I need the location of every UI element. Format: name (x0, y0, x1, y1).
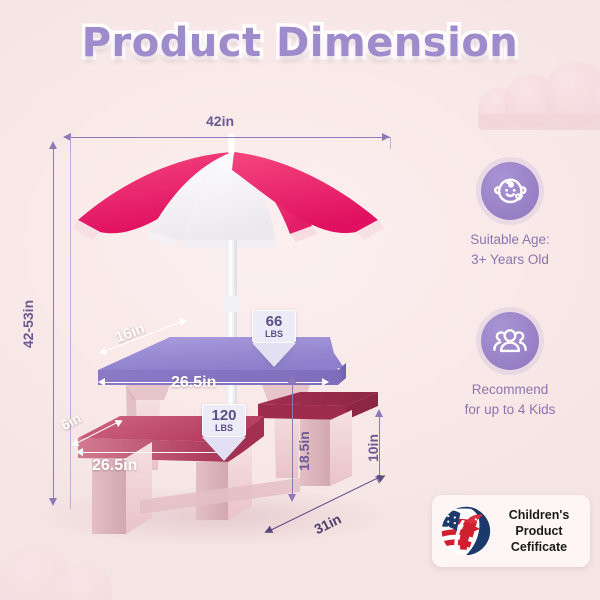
certificate-line-2: Product (494, 523, 584, 539)
infographic-canvas: Product Dimension (0, 0, 600, 600)
certificate-text: Children's Product Cefificate (494, 507, 584, 555)
weight-badge-unit: LBS (203, 423, 245, 434)
dimension-label-overall-height: 42-53in (20, 292, 36, 356)
feature-text-line2: for up to 4 Kids (430, 400, 590, 420)
dimension-label-bench-width: 26.5in (92, 457, 137, 475)
dimension-label-table-width: 26.5in (171, 374, 216, 392)
feature-icon-circle (481, 162, 539, 220)
feature-recommended-capacity: Recommend for up to 4 Kids (430, 312, 590, 419)
certificate-line-3: Cefificate (494, 539, 584, 555)
feature-icon-circle (481, 312, 539, 370)
feature-suitable-age: Suitable Age: 3+ Years Old (430, 162, 590, 269)
down-arrow-icon (202, 437, 246, 461)
weight-badge-unit: LBS (253, 329, 295, 340)
dimension-label-table-height: 18.5in (296, 421, 312, 481)
dimension-label-overall-width: 42in (206, 113, 234, 129)
down-arrow-icon (252, 343, 296, 367)
cloud-decoration-top-right (478, 62, 600, 124)
weight-badge-box: 66 LBS (252, 310, 296, 343)
cpsc-us-flag-eagle-icon (438, 503, 494, 559)
weight-badge-bench-capacity: 120 LBS (202, 404, 246, 461)
umbrella-canopy (72, 133, 384, 248)
weight-badge-value: 66 (253, 314, 295, 329)
weight-badge-table-capacity: 66 LBS (252, 310, 296, 367)
product-illustration (0, 0, 440, 600)
weight-badge-box: 120 LBS (202, 404, 246, 437)
table-top (98, 337, 346, 385)
feature-text-line2: 3+ Years Old (430, 250, 590, 270)
feature-text-line1: Recommend (430, 380, 590, 400)
feature-text-line1: Suitable Age: (430, 230, 590, 250)
baby-face-icon (491, 172, 529, 210)
certificate-badge: Children's Product Cefificate (432, 495, 590, 567)
group-of-people-icon (491, 322, 529, 360)
certificate-line-1: Children's (494, 507, 584, 523)
weight-badge-value: 120 (203, 408, 245, 423)
